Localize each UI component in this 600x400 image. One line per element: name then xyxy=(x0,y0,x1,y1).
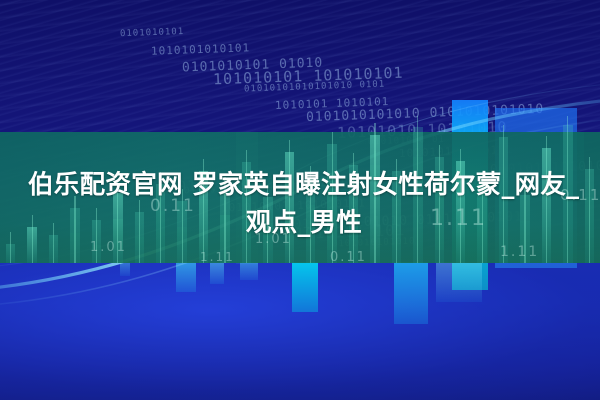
page-title: 伯乐配资官网 罗家英自曝注射女性荷尔蒙_网友_ 观点_男性 xyxy=(28,166,580,242)
headline-line-2: 观点_男性 xyxy=(28,204,580,242)
price-label: 1.11 xyxy=(500,244,539,260)
price-label: 1.11 xyxy=(200,250,235,264)
highlight-bar xyxy=(436,262,482,302)
green-chart-bar xyxy=(585,169,594,263)
price-label: 0.11 xyxy=(330,250,367,265)
banner-image: 010101010110101010101010101010101 010101… xyxy=(0,0,600,400)
price-label: 1.01 xyxy=(90,240,127,255)
headline-line-1: 伯乐配资官网 罗家英自曝注射女性荷尔蒙_网友_ xyxy=(28,166,580,204)
green-chart-bar xyxy=(6,244,15,263)
highlight-bar xyxy=(292,262,318,312)
highlight-bar xyxy=(176,262,196,292)
highlight-bar xyxy=(394,262,428,324)
highlight-bar xyxy=(210,262,224,284)
